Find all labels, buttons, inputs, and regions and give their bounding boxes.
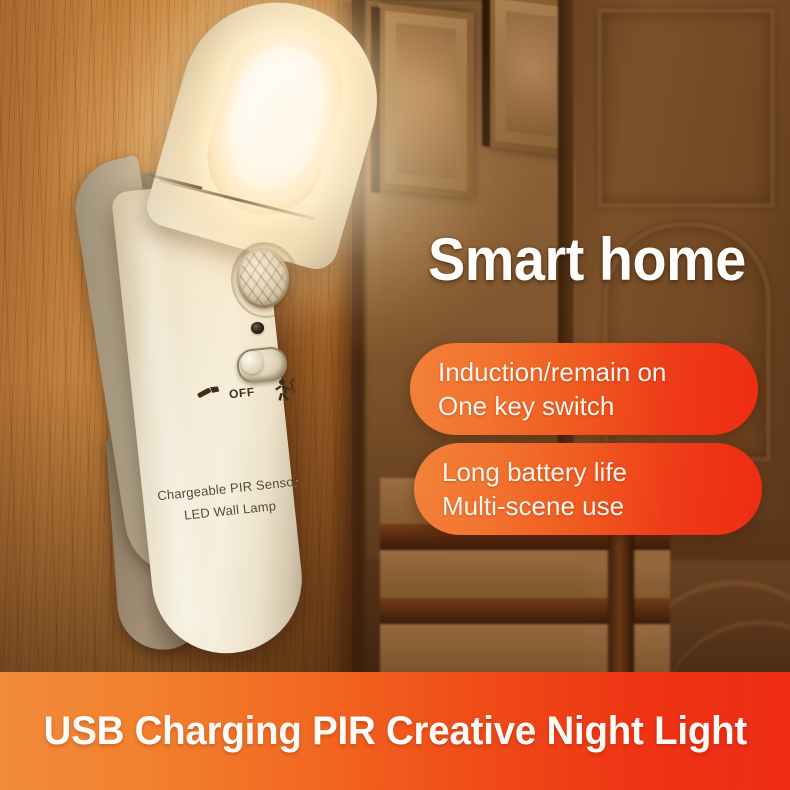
feature-pill: Induction/remain on One key switch — [410, 343, 758, 435]
feature-pill: Long battery life Multi-scene use — [414, 443, 762, 535]
torch-icon — [194, 383, 222, 402]
wall-lamp-product: OFF Chargeable PIR Sensor LED Wal — [95, 0, 435, 682]
switch-off-label: OFF — [228, 385, 255, 402]
feature-pill-line-1: Induction/remain on — [438, 356, 732, 390]
picture-frame-art — [506, 11, 556, 137]
product-marketing-image: OFF Chargeable PIR Sensor LED Wal — [0, 0, 790, 790]
bottom-banner-text: USB Charging PIR Creative Night Light — [43, 709, 746, 754]
feature-pill-line-2: Multi-scene use — [442, 490, 736, 524]
feature-pill-line-1: Long battery life — [442, 456, 736, 490]
feature-pill-line-2: One key switch — [438, 390, 732, 424]
bottom-banner: USB Charging PIR Creative Night Light — [0, 672, 790, 790]
pir-lens-facets — [237, 249, 288, 308]
walking-person-icon — [270, 377, 297, 405]
page-title: Smart home — [428, 230, 746, 290]
indicator-led — [251, 322, 264, 334]
door-panel-upper — [597, 8, 775, 208]
picture-frame-edge — [482, 0, 490, 147]
